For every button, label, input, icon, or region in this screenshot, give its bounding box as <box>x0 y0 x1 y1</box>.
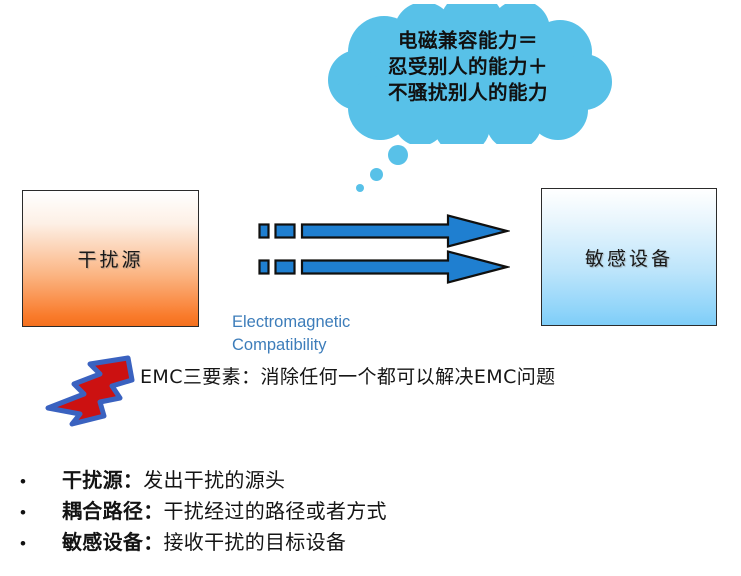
list-item-term: 耦合路径： <box>62 499 164 523</box>
emc-elements-list: • 干扰源：发出干扰的源头 • 耦合路径：干扰经过的路径或者方式 • 敏感设备：… <box>14 465 714 558</box>
emc-english-caption: Electromagnetic Compatibility <box>232 311 432 357</box>
cloud-text-line-2: 忍受别人的能力＋ <box>322 54 614 80</box>
red-emphasis-arrow <box>44 354 140 432</box>
list-item: • 耦合路径：干扰经过的路径或者方式 <box>14 496 714 527</box>
red-arrow-shape <box>44 354 140 432</box>
sensitive-equipment-box: 敏感设备 <box>541 188 717 326</box>
list-item-text: 干扰源：发出干扰的源头 <box>62 465 285 496</box>
coupling-path-arrows <box>258 214 510 286</box>
list-item-desc: 发出干扰的源头 <box>143 468 285 492</box>
list-item: • 敏感设备：接收干扰的目标设备 <box>14 527 714 558</box>
thought-cloud: 电磁兼容能力＝ 忍受别人的能力＋ 不骚扰别人的能力 <box>322 4 614 144</box>
cloud-text-block: 电磁兼容能力＝ 忍受别人的能力＋ 不骚扰别人的能力 <box>322 28 614 106</box>
cloud-text-line-3: 不骚扰别人的能力 <box>322 80 614 106</box>
thought-bubble-dot-medium <box>370 168 383 181</box>
bullet-marker-icon: • <box>14 497 62 528</box>
interference-source-label: 干扰源 <box>77 245 143 272</box>
interference-source-box: 干扰源 <box>22 190 199 327</box>
list-item-term: 干扰源： <box>62 468 143 492</box>
list-item-desc: 接收干扰的目标设备 <box>164 530 347 554</box>
thought-bubble-dot-large <box>388 145 408 165</box>
emc-three-elements-note: EMC三要素：消除任何一个都可以解决EMC问题 <box>140 362 556 389</box>
list-item: • 干扰源：发出干扰的源头 <box>14 465 714 496</box>
emc-english-line-1: Electromagnetic <box>232 311 432 334</box>
list-item-term: 敏感设备： <box>62 530 164 554</box>
bullet-marker-icon: • <box>14 466 62 497</box>
list-item-text: 敏感设备：接收干扰的目标设备 <box>62 527 346 558</box>
sensitive-equipment-label: 敏感设备 <box>585 244 673 271</box>
list-item-text: 耦合路径：干扰经过的路径或者方式 <box>62 496 387 527</box>
thought-bubble-dot-small <box>356 184 364 192</box>
list-item-desc: 干扰经过的路径或者方式 <box>164 499 387 523</box>
emc-english-line-2: Compatibility <box>232 334 432 357</box>
slide-canvas: 电磁兼容能力＝ 忍受别人的能力＋ 不骚扰别人的能力 干扰源 敏感设备 <box>0 0 741 576</box>
cloud-text-line-1: 电磁兼容能力＝ <box>322 28 614 54</box>
coupling-arrows-shape <box>258 214 510 286</box>
bullet-marker-icon: • <box>14 528 62 559</box>
